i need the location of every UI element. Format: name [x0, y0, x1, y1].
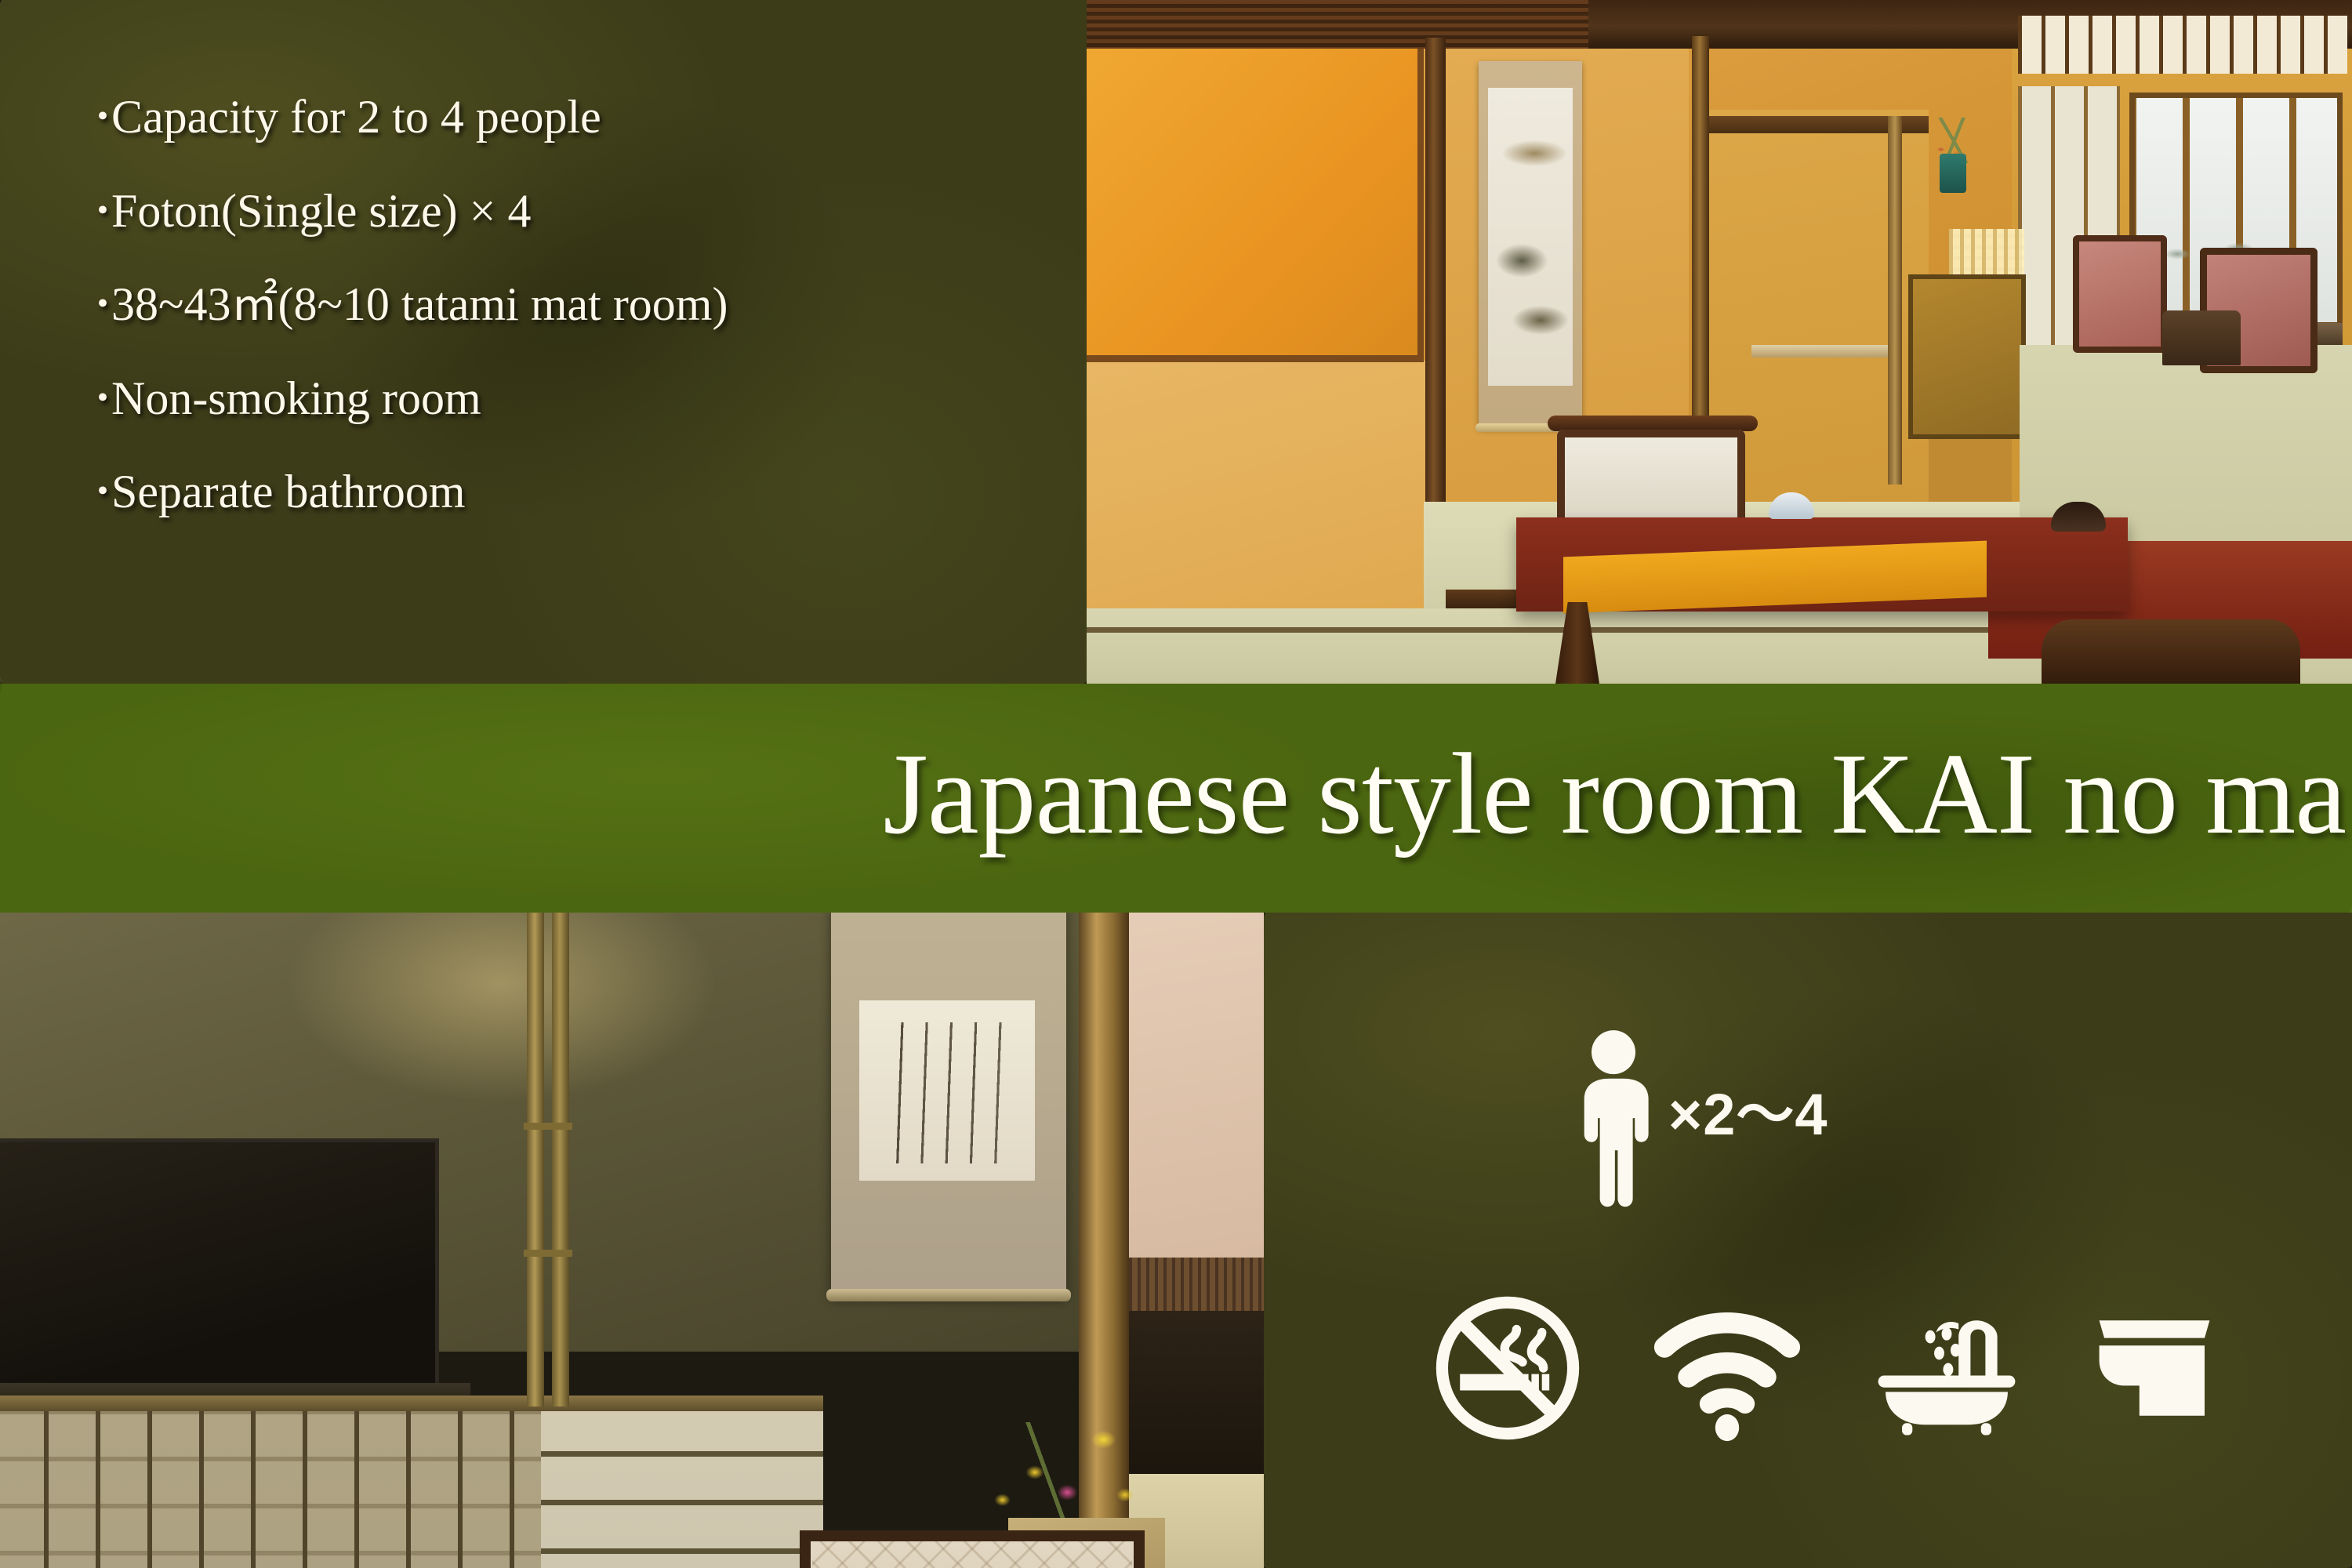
wifi-icon [1653, 1294, 1802, 1443]
bullet-glyph: ・ [85, 474, 111, 512]
list-item: ・Capacity for 2 to 4 people [85, 93, 1065, 143]
capacity-row: ×2〜4 [1570, 1029, 1828, 1210]
no-smoking-icon [1433, 1294, 1582, 1443]
list-item: ・Foton(Single size) × 4 [85, 187, 1065, 237]
spec-text: Separate bathroom [111, 466, 466, 517]
amenity-icons [1433, 1294, 2217, 1443]
spec-list: ・Capacity for 2 to 4 people ・Foton(Singl… [85, 93, 1065, 561]
room-photo-top [1087, 0, 2352, 684]
room-photo-bottom [0, 913, 1264, 1568]
list-item: ・Separate bathroom [85, 467, 1065, 517]
spec-text: Foton(Single size) × 4 [111, 185, 531, 237]
spec-text: 38~43㎡(8~10 tatami mat room) [111, 278, 728, 330]
person-icon [1570, 1029, 1657, 1210]
page-title: Japanese style room KAI no ma [883, 736, 2352, 860]
amenity-icon-panel: ×2〜4 [1264, 913, 2352, 1568]
room-promo-poster: ・Capacity for 2 to 4 people ・Foton(Singl… [0, 0, 2352, 1568]
capacity-label: ×2〜4 [1668, 1068, 1828, 1172]
spec-text: Non-smoking room [111, 372, 481, 424]
spec-text: Capacity for 2 to 4 people [111, 91, 601, 143]
title-banner: Japanese style room KAI no ma [0, 684, 2352, 913]
bathtub-shower-icon [1872, 1294, 2021, 1443]
bullet-glyph: ・ [85, 286, 111, 325]
toilet-icon [2092, 1305, 2217, 1431]
spec-panel: ・Capacity for 2 to 4 people ・Foton(Singl… [0, 0, 1087, 684]
bullet-glyph: ・ [85, 99, 111, 137]
bullet-glyph: ・ [85, 380, 111, 419]
list-item: ・38~43㎡(8~10 tatami mat room) [85, 280, 1065, 330]
list-item: ・Non-smoking room [85, 374, 1065, 424]
bullet-glyph: ・ [85, 193, 111, 231]
